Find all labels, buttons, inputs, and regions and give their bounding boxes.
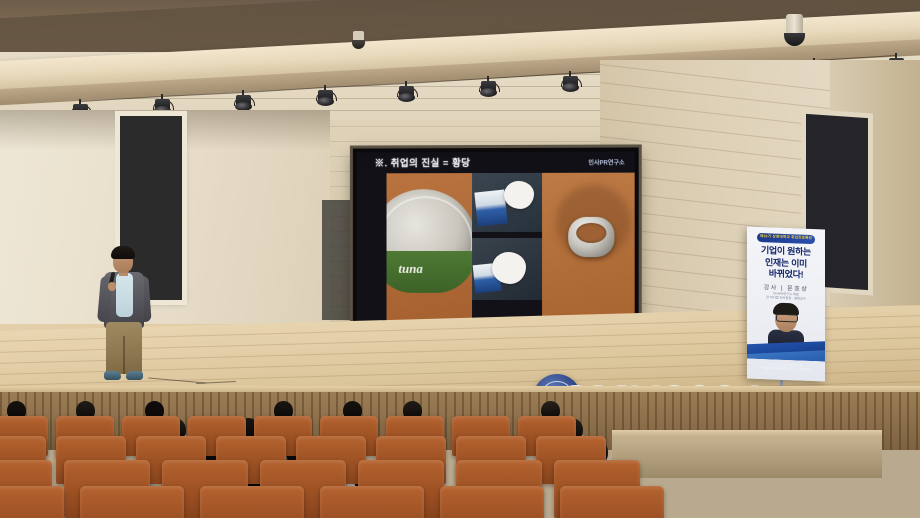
banner-speaker-subtitle: 인사PR연구소 대표 전 대기업 인사팀장 · 겸임교수 <box>747 291 825 302</box>
banner-headline-line3: 바뀌었다! <box>752 268 820 282</box>
stage-front-slat <box>907 392 909 450</box>
banner-speaker-photo <box>766 301 806 349</box>
speaker-hand <box>108 282 116 291</box>
speaker-shirt <box>116 273 133 317</box>
speaker-leg-seam <box>123 336 125 374</box>
auditorium-seat[interactable] <box>320 486 424 518</box>
stage-light <box>317 90 334 105</box>
stage-step <box>612 436 882 478</box>
auditorium-seat[interactable] <box>200 486 304 518</box>
slide-photo-group: tuna <box>357 173 635 327</box>
banner-headline: 기업이 원하는 인재는 이미 바뀌었다! <box>752 245 820 282</box>
banner-badge-text: 제26기 상명대학교 취업진로특강 <box>757 234 815 241</box>
stage-light <box>235 95 252 110</box>
auditorium-seat[interactable] <box>560 486 664 518</box>
auditorium-photo: http://www.ins-best.com http://www.inspr… <box>0 0 920 518</box>
stage-light <box>398 86 415 101</box>
stage-front-slat <box>916 392 918 450</box>
slide-photo-tuna-can: tuna <box>387 173 473 326</box>
speaker-hair <box>111 246 135 259</box>
speaker-shoe-left <box>104 371 121 380</box>
slide-header-bar: http://www.ins-best.com http://www.inspr… <box>357 151 635 173</box>
stage-front-slat <box>50 392 52 450</box>
slide-surface: http://www.ins-best.com http://www.inspr… <box>357 151 635 338</box>
auditorium-seat[interactable] <box>80 486 184 518</box>
auditorium-seat[interactable] <box>440 486 544 518</box>
glasses-icon <box>776 314 798 323</box>
stage-light <box>562 76 579 91</box>
slide-photo-pull-tab <box>542 173 635 327</box>
slide-brand-logo: 인사PR연구소 <box>588 158 624 167</box>
stage-front-slat <box>890 392 892 450</box>
tissue-sheet <box>504 181 534 209</box>
pull-tab-opening <box>576 223 606 243</box>
tissue-box <box>474 190 507 227</box>
speaker-shoe-right <box>126 371 143 380</box>
banner-badge: 제26기 상명대학교 취업진로특강 <box>757 233 815 244</box>
slide-photo-tissue-pull <box>472 238 542 300</box>
event-banner: 제26기 상명대학교 취업진로특강 기업이 원하는 인재는 이미 바뀌었다! 강… <box>747 227 825 382</box>
tuna-can-text: tuna <box>398 261 422 277</box>
slide-title: ※. 취업의 진실 = 황당 <box>375 155 471 169</box>
auditorium-seat[interactable] <box>0 486 64 518</box>
stage-front-slat <box>882 392 884 450</box>
stage-light <box>480 81 497 96</box>
banner-event-details: 2024. 4. 11.(목) 14:30 학술관 제1층대강당(학관 1층강당… <box>747 361 825 373</box>
tissue-sheet-2 <box>492 252 526 284</box>
slide-photo-tissue-box <box>472 173 542 232</box>
stage-front-slat <box>899 392 901 450</box>
